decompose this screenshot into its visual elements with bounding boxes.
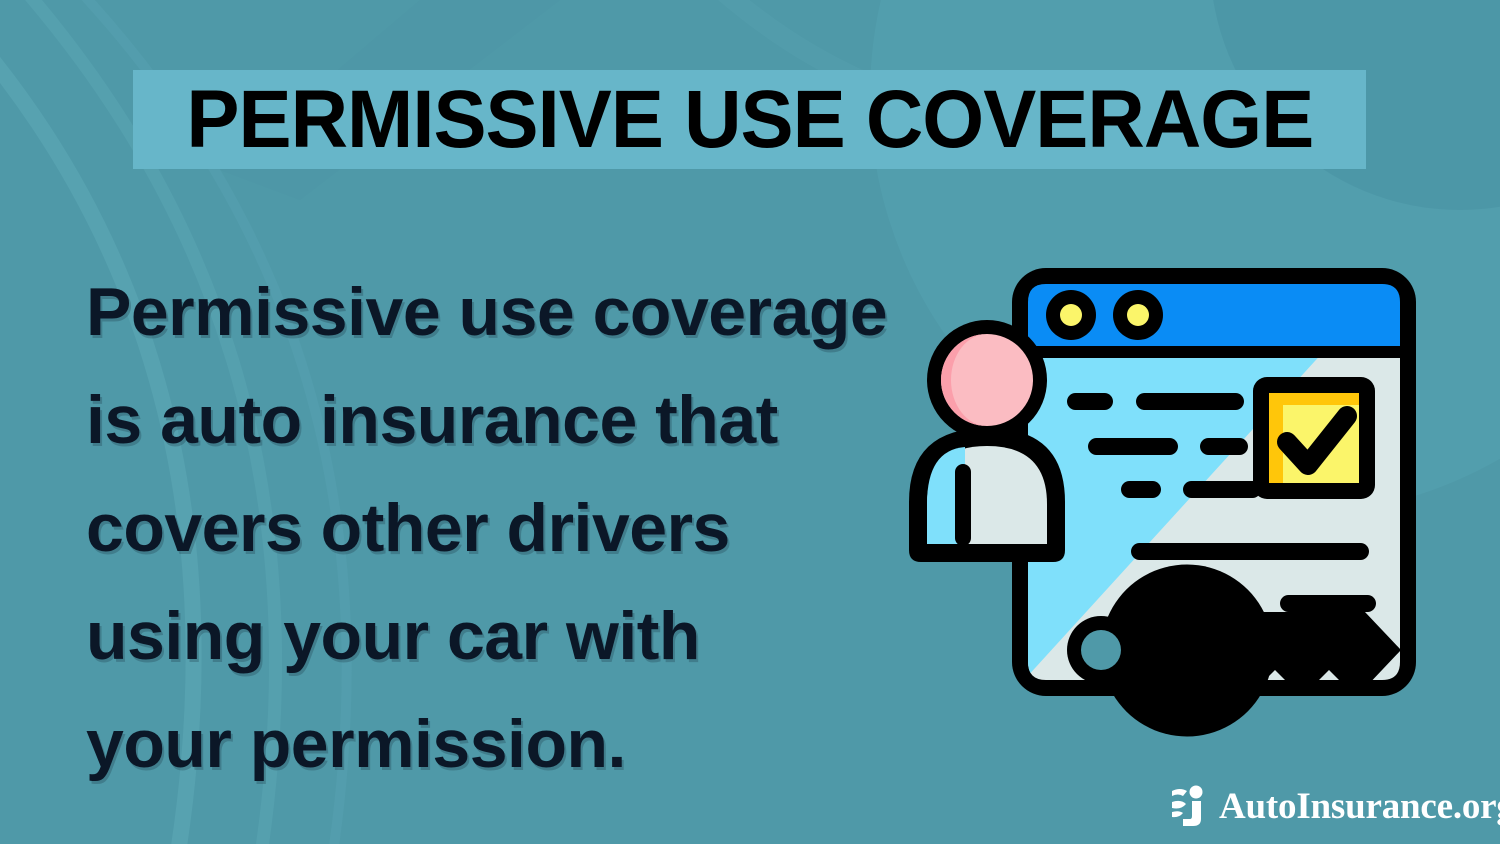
body-copy-block: Permissive use coverage is auto insuranc…: [86, 258, 976, 798]
document-text-line: [1136, 393, 1244, 410]
logo-dot: [1190, 786, 1203, 799]
document-text-line: [1088, 438, 1178, 455]
page-title-highlight: PERMISSIVE USE COVERAGE: [133, 70, 1366, 169]
logo-a-tail: [1172, 811, 1183, 817]
permissive-use-illustration: [895, 250, 1435, 750]
document-text-line: [1131, 543, 1369, 560]
logo-a-bowl: [1172, 801, 1186, 809]
document-text-line: [1200, 438, 1248, 455]
logo-text: AutoInsurance.org: [1219, 788, 1500, 825]
logo-swoosh: [1172, 789, 1187, 796]
document-text-line: [1280, 595, 1376, 612]
body-line: covers other drivers: [86, 474, 976, 582]
body-line: Permissive use coverage: [86, 258, 976, 366]
document-text-line: [1067, 393, 1113, 410]
window-dot-button-2[interactable]: [1127, 304, 1149, 326]
document-text-line: [1183, 481, 1261, 498]
body-line: your permission.: [86, 690, 976, 798]
brand-logo[interactable]: AutoInsurance.org: [1170, 783, 1500, 829]
infographic-canvas: PERMISSIVE USE COVERAGE Permissive use c…: [0, 0, 1500, 844]
person-torso-divider: [955, 464, 971, 546]
body-line: is auto insurance that: [86, 366, 976, 474]
logo-j-stem: [1183, 801, 1201, 826]
key-hole: [1081, 630, 1121, 670]
body-line: using your car with: [86, 582, 976, 690]
yellow-checkbox-with-checkmark[interactable]: [1253, 377, 1375, 499]
key-blade-outline: [1165, 612, 1401, 688]
aj-monogram-icon: [1170, 785, 1208, 827]
window-dot-button-1[interactable]: [1060, 304, 1082, 326]
page-title: PERMISSIVE USE COVERAGE: [186, 79, 1313, 161]
document-text-line: [1121, 481, 1161, 498]
illustration-svg: [895, 250, 1435, 750]
